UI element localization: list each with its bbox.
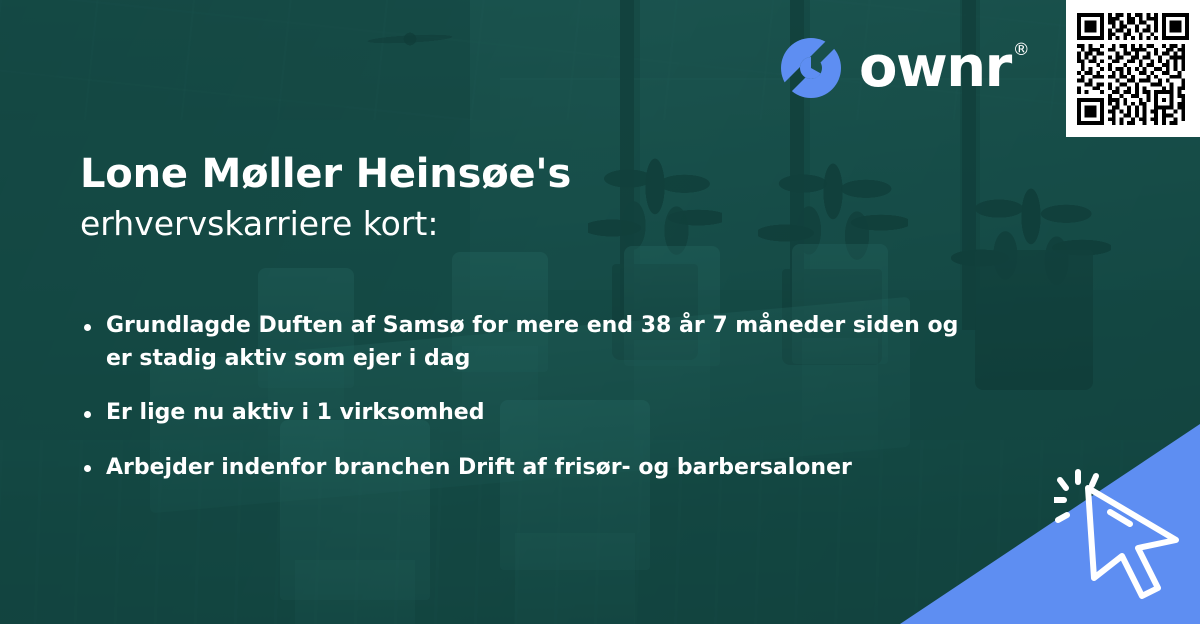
registered-trademark-icon: ®: [1013, 42, 1030, 59]
click-cursor-icon: [1054, 468, 1186, 604]
ownr-wordmark: ownr®: [859, 40, 1011, 96]
page-title: Lone Møller Heinsøe's erhvervskarriere k…: [80, 152, 980, 244]
title-person-name: Lone Møller Heinsøe's: [80, 152, 980, 198]
list-item: Er lige nu aktiv i 1 virksomhed: [80, 397, 960, 430]
career-facts-list: Grundlagde Duften af Samsø for mere end …: [80, 310, 960, 506]
ownr-logo[interactable]: ownr®: [779, 33, 1011, 103]
career-card: ownr® Lone Møller Heinsøe's erhvervskarr…: [0, 0, 1200, 624]
qr-code[interactable]: [1077, 13, 1189, 125]
title-subtitle: erhvervskarriere kort:: [80, 204, 980, 244]
qr-code-panel[interactable]: [1066, 0, 1200, 137]
ownr-circular-swoosh-mark: [779, 36, 843, 100]
list-item: Arbejder indenfor branchen Drift af fris…: [80, 452, 960, 485]
list-item: Grundlagde Duften af Samsø for mere end …: [80, 310, 960, 375]
ownr-wordmark-text: ownr: [859, 35, 1011, 100]
